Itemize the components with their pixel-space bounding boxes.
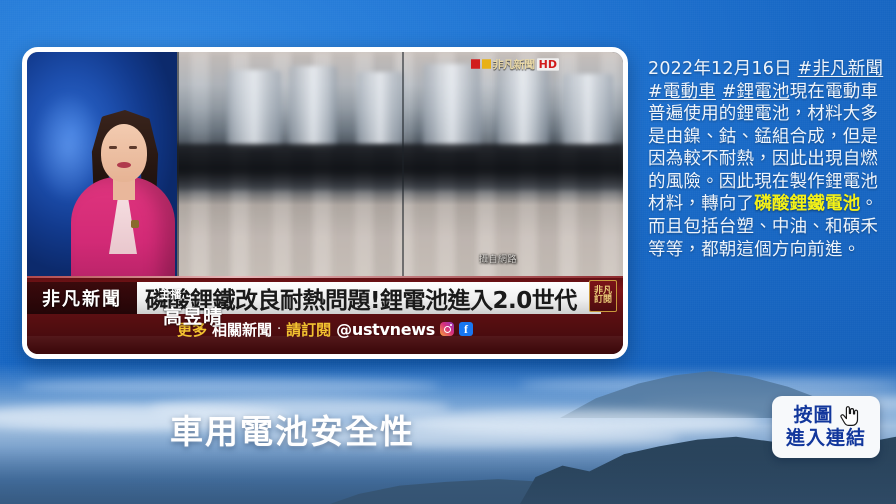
station-logo-name: 非凡新聞 bbox=[493, 56, 535, 71]
anchor-eye bbox=[129, 146, 137, 149]
hashtag-ustvnews[interactable]: #非凡新聞 bbox=[798, 59, 884, 79]
lower-third-topline bbox=[27, 276, 623, 278]
footage-source-caption: 攝自網路 bbox=[479, 252, 517, 265]
page-title: 車用電池安全性 bbox=[170, 405, 415, 453]
subscribe-separator: · bbox=[277, 322, 281, 337]
factory-cylinder bbox=[563, 74, 613, 148]
video-frame: 攝自網路 非凡新聞 HD 主播 高昱晴 非凡新聞 bbox=[27, 52, 623, 354]
cta-top-row: 按圖 bbox=[793, 405, 858, 427]
anchor-role-label: 主播 bbox=[159, 286, 182, 302]
anchor-lapel-mic bbox=[131, 220, 139, 228]
banner-reflection bbox=[27, 336, 623, 350]
post-highlight-term: 磷酸鋰鐵電池 bbox=[754, 194, 860, 214]
lower-third-banner: 非凡新聞 磷酸鋰鐵改良耐熱問題!鋰電池進入2.0世代 更多 相關新聞 · 請訂閱… bbox=[27, 276, 623, 354]
wall-panel-seam bbox=[177, 52, 179, 284]
factory-cylinder bbox=[289, 66, 337, 148]
logo-square-yellow bbox=[482, 59, 491, 69]
anchor-face bbox=[101, 124, 147, 182]
hashtag-ev[interactable]: #電動車 bbox=[648, 82, 716, 102]
subscribe-badge-line2: 訂閱 bbox=[594, 296, 612, 305]
video-player-card[interactable]: 攝自網路 非凡新聞 HD 主播 高昱晴 非凡新聞 bbox=[22, 47, 628, 359]
factory-cylinder bbox=[227, 70, 281, 148]
screenshot-root: 車用電池安全性 bbox=[0, 0, 896, 504]
subscribe-badge[interactable]: 非凡 訂閱 bbox=[589, 280, 617, 312]
factory-cylinder bbox=[423, 64, 481, 150]
background-cloud-sea-photo bbox=[0, 354, 896, 504]
pointing-hand-icon bbox=[839, 405, 859, 427]
facebook-icon[interactable]: f bbox=[459, 322, 473, 336]
enter-link-button[interactable]: 按圖 進入連結 bbox=[772, 396, 880, 458]
post-date: 2022年12月16日 bbox=[648, 59, 792, 79]
anchor-mouth bbox=[117, 162, 131, 168]
anchor-eye bbox=[109, 146, 117, 149]
headline-row: 非凡新聞 磷酸鋰鐵改良耐熱問題!鋰電池進入2.0世代 bbox=[27, 282, 601, 314]
bottom-haze bbox=[0, 446, 896, 504]
factory-cylinder bbox=[357, 72, 403, 146]
station-logo: 非凡新聞 HD bbox=[471, 56, 559, 71]
factory-cylinder bbox=[497, 68, 549, 148]
anchor-name: 高昱晴 bbox=[163, 302, 223, 329]
post-paragraph: 2022年12月16日 #非凡新聞 #電動車 #鋰電池現在電動車普遍使用的鋰電池… bbox=[648, 58, 888, 261]
post-text-body: 2022年12月16日 #非凡新聞 #電動車 #鋰電池現在電動車普遍使用的鋰電池… bbox=[648, 58, 888, 261]
cta-line2: 進入連結 bbox=[786, 429, 866, 449]
logo-square-red bbox=[471, 59, 480, 69]
cloud-band bbox=[20, 378, 440, 394]
instagram-icon[interactable] bbox=[440, 322, 454, 336]
cta-line1: 按圖 bbox=[793, 406, 833, 426]
channel-tag: 非凡新聞 bbox=[27, 282, 137, 314]
wall-panel-seam bbox=[402, 52, 404, 284]
hd-badge: HD bbox=[537, 58, 559, 70]
hashtag-lithium-battery[interactable]: #鋰電池 bbox=[722, 82, 790, 102]
